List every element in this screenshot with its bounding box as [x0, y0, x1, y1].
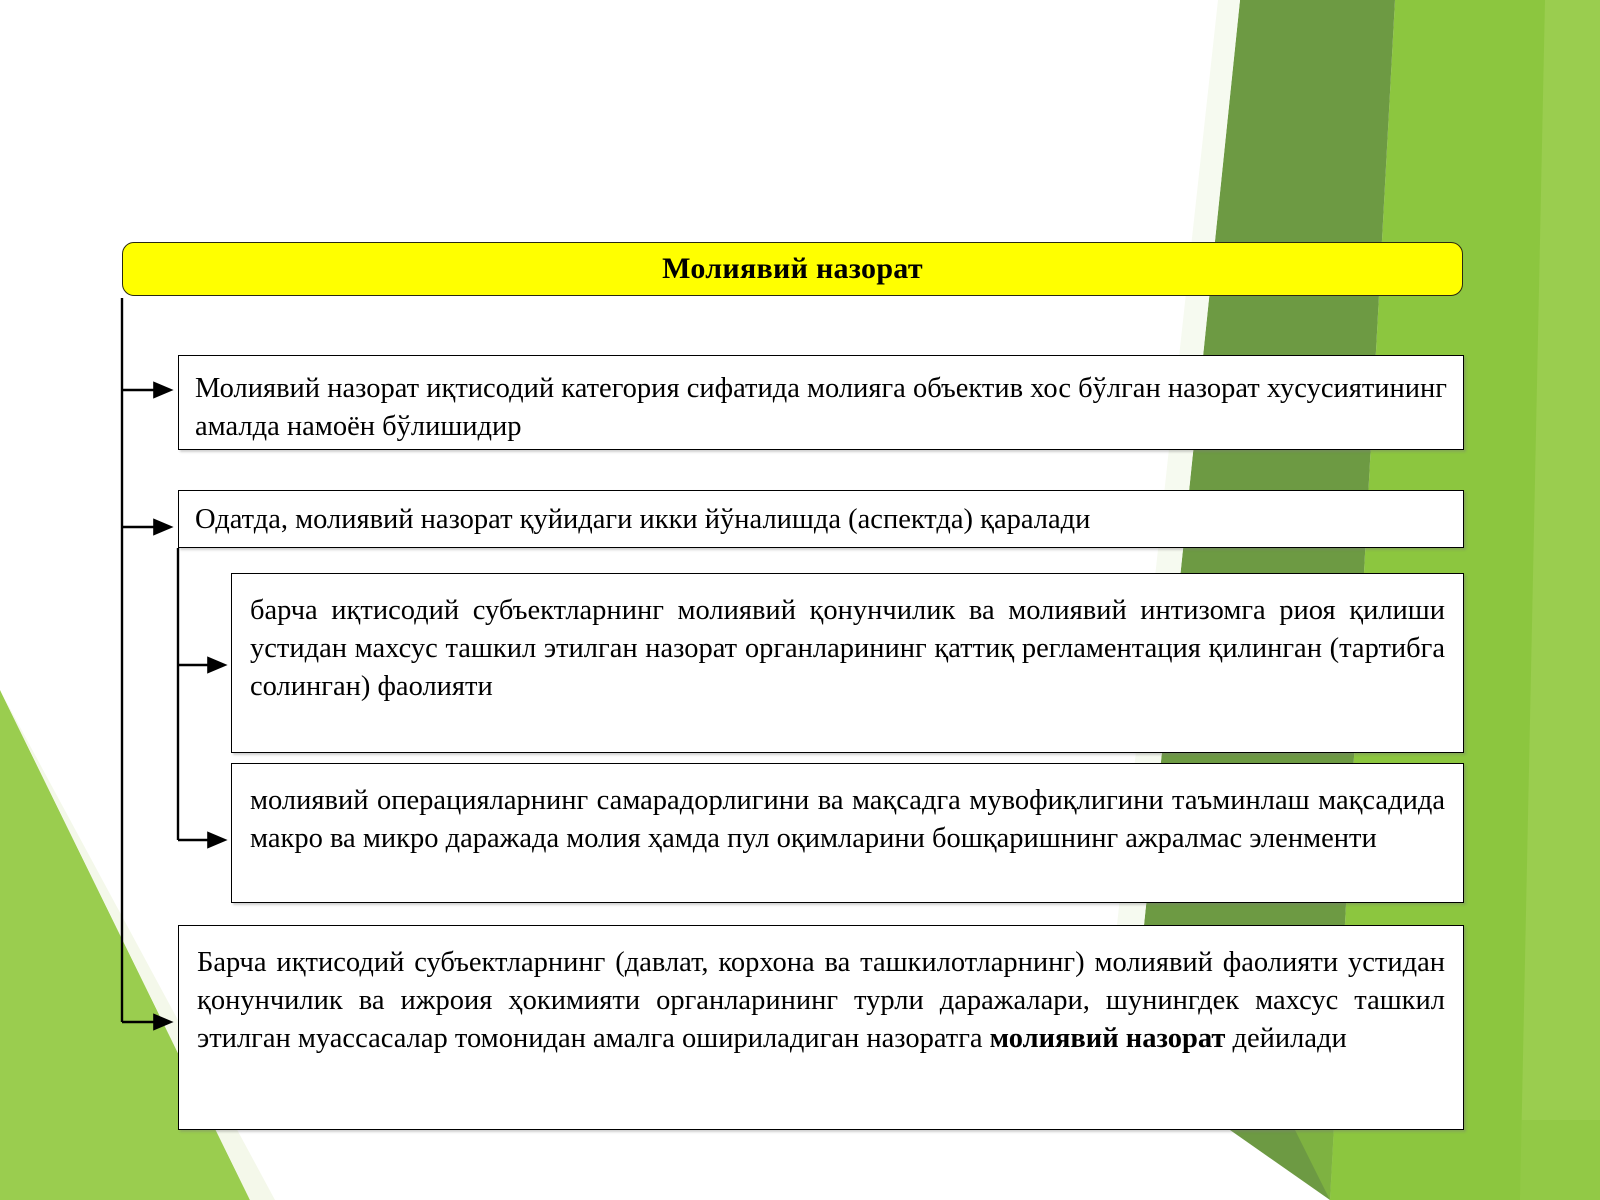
- aspect-2-box: молиявий операцияларнинг самарадорлигини…: [231, 763, 1464, 903]
- intro-box: Одатда, молиявий назорат қуйидаги икки й…: [178, 490, 1464, 548]
- conclusion-box: Барча иқтисодий субъектларнинг (давлат, …: [178, 925, 1464, 1130]
- conclusion-text: Барча иқтисодий субъектларнинг (давлат, …: [197, 944, 1445, 1059]
- slide-content: Молиявий назорат Молиявий назорат иқтисо…: [0, 0, 1600, 1200]
- intro-text: Одатда, молиявий назорат қуйидаги икки й…: [195, 501, 1447, 539]
- definition-box: Молиявий назорат иқтисодий категория сиф…: [178, 355, 1464, 450]
- conclusion-term-emphasis: молиявий назорат: [990, 1023, 1226, 1054]
- conclusion-text-after: дейилади: [1225, 1023, 1346, 1054]
- aspect-1-box: барча иқтисодий субъектларнинг молиявий …: [231, 573, 1464, 753]
- slide-title-box: Молиявий назорат: [122, 242, 1463, 296]
- page-title: Молиявий назорат: [662, 252, 923, 286]
- aspect-1-text: барча иқтисодий субъектларнинг молиявий …: [250, 592, 1445, 707]
- definition-text: Молиявий назорат иқтисодий категория сиф…: [195, 370, 1447, 446]
- aspect-2-text: молиявий операцияларнинг самарадорлигини…: [250, 782, 1445, 858]
